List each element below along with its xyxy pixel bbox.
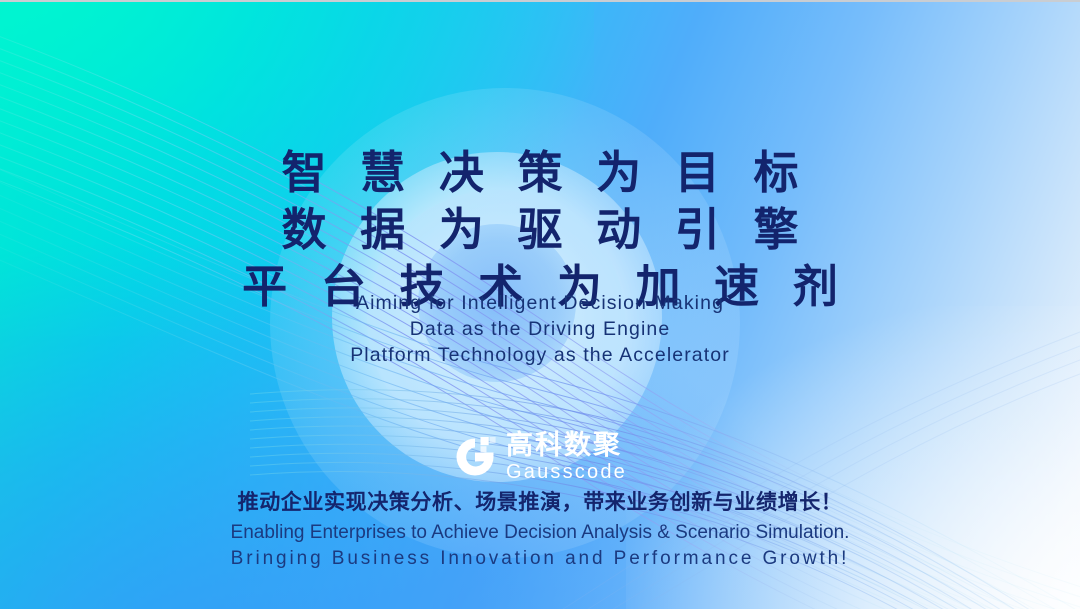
poster-canvas: 智 慧 决 策 为 目 标 数 据 为 驱 动 引 擎 平 台 技 术 为 加 …: [0, 0, 1080, 609]
brand-logo: 高科数聚 Gausscode: [0, 432, 1080, 482]
subheadline-line-2: Data as the Driving Engine: [0, 316, 1080, 342]
headline-line-1: 智 慧 决 策 为 目 标: [0, 144, 1080, 201]
subheadline-line-3: Platform Technology as the Accelerator: [0, 342, 1080, 368]
brand-name-cn: 高科数聚: [506, 432, 627, 459]
brand-name-en: Gausscode: [506, 462, 627, 482]
headline-line-2: 数 据 为 驱 动 引 擎: [0, 201, 1080, 258]
tagline-chinese: 推动企业实现决策分析、场景推演，带来业务创新与业绩增长！: [0, 486, 1080, 516]
gausscode-g-mark-icon: [453, 435, 497, 479]
brand-logo-wordmark: 高科数聚 Gausscode: [506, 432, 627, 482]
tagline-english-line-2: Bringing Business Innovation and Perform…: [0, 546, 1080, 572]
subheadline-line-1: Aiming for Intelligent Decision-Making: [0, 290, 1080, 316]
subheadline: Aiming for Intelligent Decision-Making D…: [0, 290, 1080, 368]
poster-content: 智 慧 决 策 为 目 标 数 据 为 驱 动 引 擎 平 台 技 术 为 加 …: [0, 2, 1080, 609]
tagline-english-line-1: Enabling Enterprises to Achieve Decision…: [0, 520, 1080, 546]
tagline-english: Enabling Enterprises to Achieve Decision…: [0, 520, 1080, 572]
